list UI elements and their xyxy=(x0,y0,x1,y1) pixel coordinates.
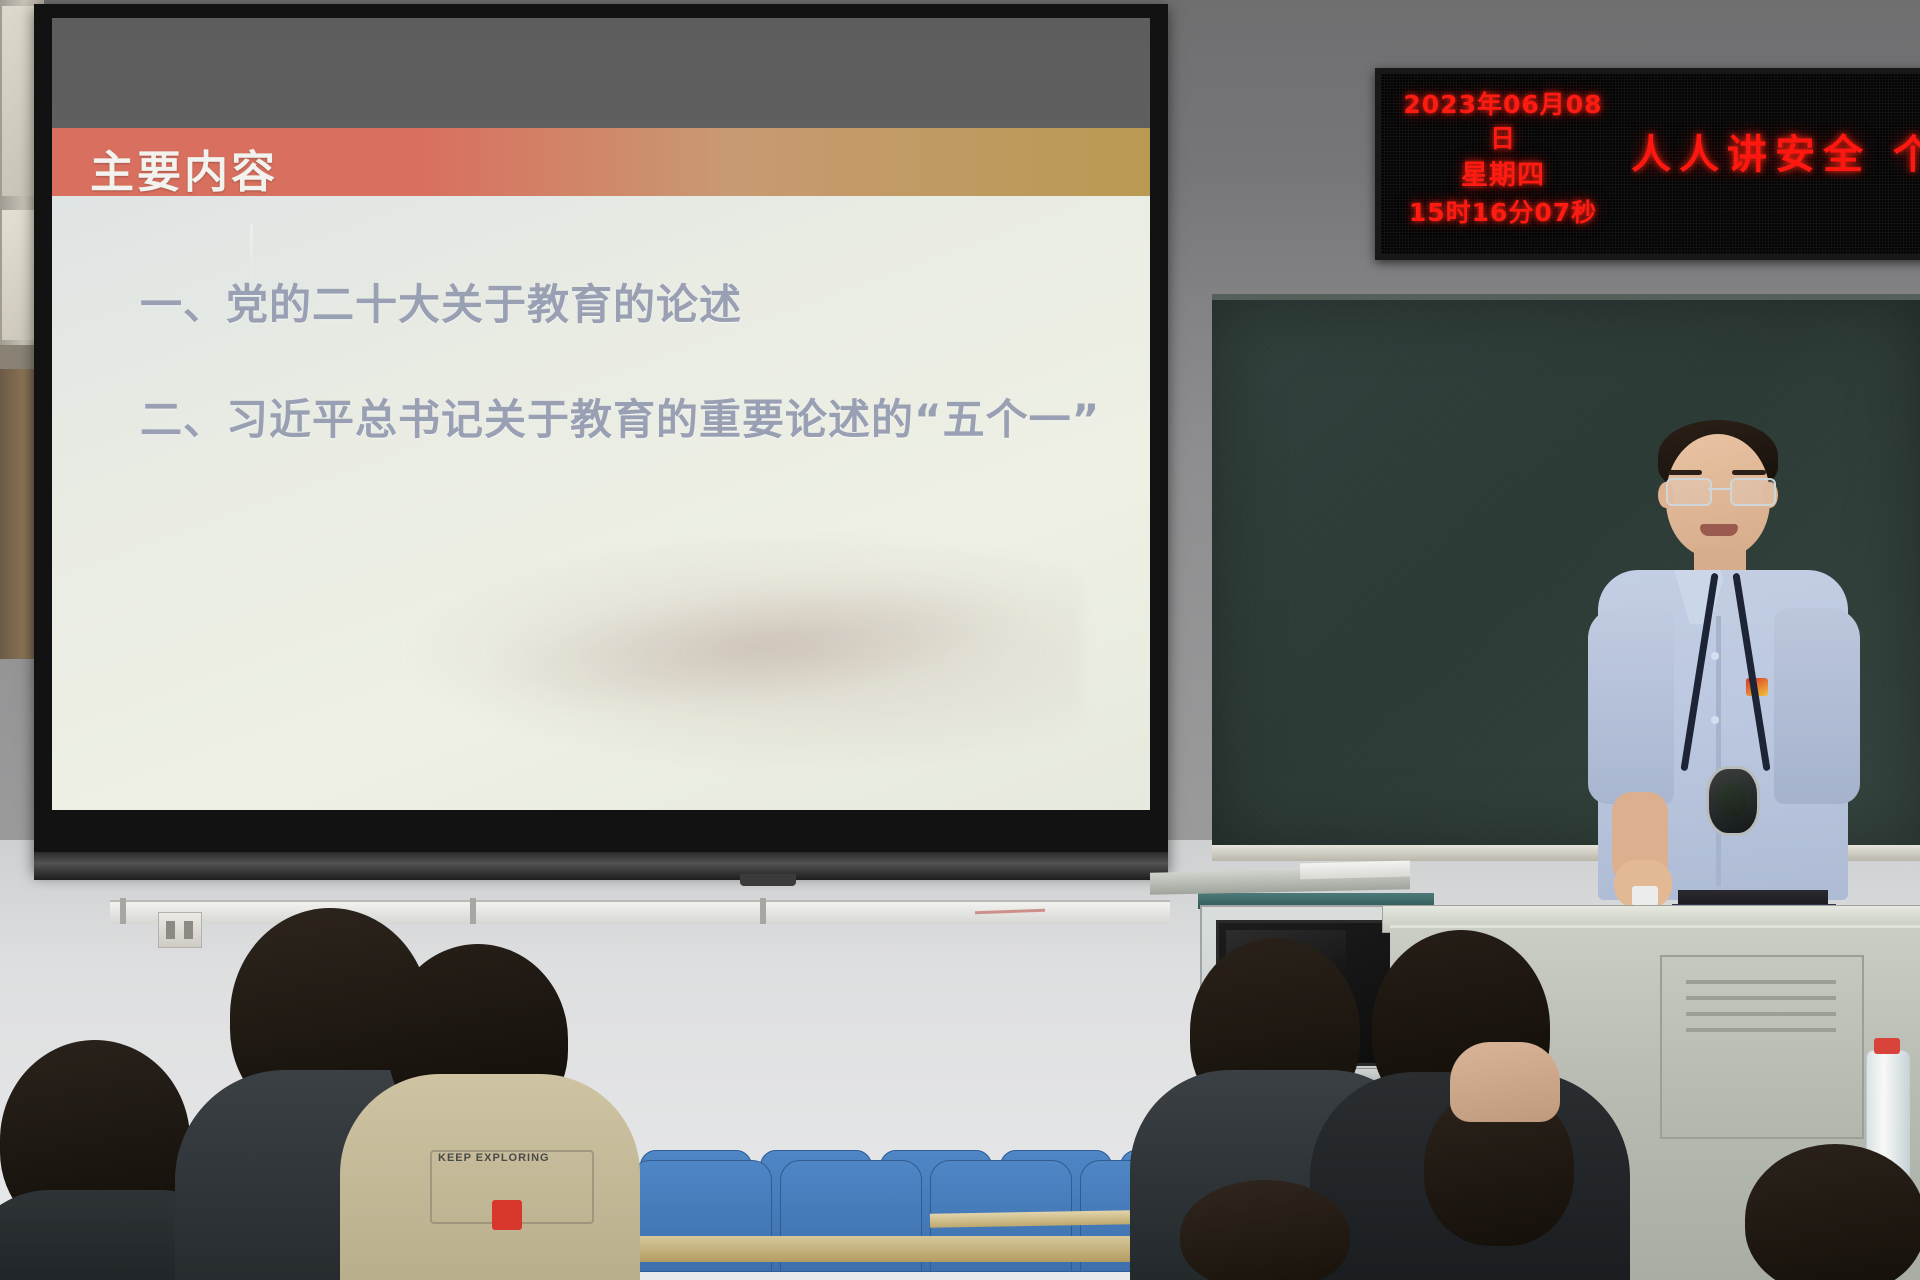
slide-bullet-2: 二、习近平总书记关于教育的重要论述的“五个一” xyxy=(140,386,1100,447)
led-weekday: 星期四 xyxy=(1395,156,1611,196)
classroom-scene: 主要内容 一、党的二十大关于教育的论述 二、习近平总书记关于教育的重要论述的“五… xyxy=(0,0,1920,1280)
lanyard-badge xyxy=(1706,766,1760,836)
screen-roller-knob xyxy=(740,874,796,886)
presenter-mouth xyxy=(1700,524,1738,536)
presenter-shirt-button-1 xyxy=(1711,652,1719,660)
glasses-icon xyxy=(1664,478,1774,502)
podium-vent-slot-1 xyxy=(1686,980,1836,984)
audience-member-7-head xyxy=(1745,1144,1920,1280)
presentation-slide: 主要内容 一、党的二十大关于教育的论述 二、习近平总书记关于教育的重要论述的“五… xyxy=(52,18,1150,810)
wall-power-socket[interactable] xyxy=(158,912,202,948)
podium-vent-slot-4 xyxy=(1686,1028,1836,1032)
screen-roller-bar xyxy=(34,852,1168,880)
audience-member-6-arm xyxy=(1450,1042,1560,1122)
wall-scuff-mark xyxy=(250,224,253,284)
audience-member-3-shirt-text: KEEP EXPLORING xyxy=(438,1152,550,1164)
glasses-lens-right xyxy=(1730,478,1776,506)
water-bottle-cap xyxy=(1874,1038,1900,1054)
podium-vent-slot-3 xyxy=(1686,1012,1836,1016)
led-scrolling-message: 人人讲安全 个个 xyxy=(1631,122,1920,180)
presenter-sleeve-right xyxy=(1774,608,1860,804)
wall-rail-bracket-2 xyxy=(470,898,476,924)
led-datetime-block: 2023年06月08日 星期四 15时16分07秒 xyxy=(1395,88,1611,230)
window-pane-lower xyxy=(2,210,38,340)
paper-sheet xyxy=(1300,861,1410,880)
presentation-clicker[interactable] xyxy=(1632,886,1658,906)
lanyard-badge-face xyxy=(1717,783,1747,817)
slide-title: 主要内容 xyxy=(90,136,278,200)
slide-body: 一、党的二十大关于教育的论述 二、习近平总书记关于教育的重要论述的“五个一” xyxy=(52,196,1150,810)
led-time: 15时16分07秒 xyxy=(1395,196,1611,230)
led-message-board: 2023年06月08日 星期四 15时16分07秒 人人讲安全 个个 xyxy=(1375,68,1920,260)
audience-member-8-head xyxy=(1180,1180,1350,1280)
presenter-eyebrow-left xyxy=(1668,470,1702,475)
audience-member-3-badge-clip xyxy=(492,1200,522,1230)
wall-rail-bracket-3 xyxy=(760,898,766,924)
podium-vent-slot-2 xyxy=(1686,996,1836,1000)
wall-rail-bracket-1 xyxy=(120,898,126,924)
glasses-bridge xyxy=(1708,488,1730,490)
presenter-shirt-button-2 xyxy=(1711,716,1719,724)
glasses-lens-left xyxy=(1666,478,1712,506)
led-scroll-region: 人人讲安全 个个 xyxy=(1631,122,1920,180)
led-date: 2023年06月08日 xyxy=(1395,88,1611,156)
presenter-eyebrow-right xyxy=(1732,470,1766,475)
presenter xyxy=(1560,420,1910,940)
presenter-sleeve-left xyxy=(1588,608,1674,804)
window-pane-upper xyxy=(2,6,38,196)
slide-bullet-1: 一、党的二十大关于教育的论述 xyxy=(140,271,742,332)
